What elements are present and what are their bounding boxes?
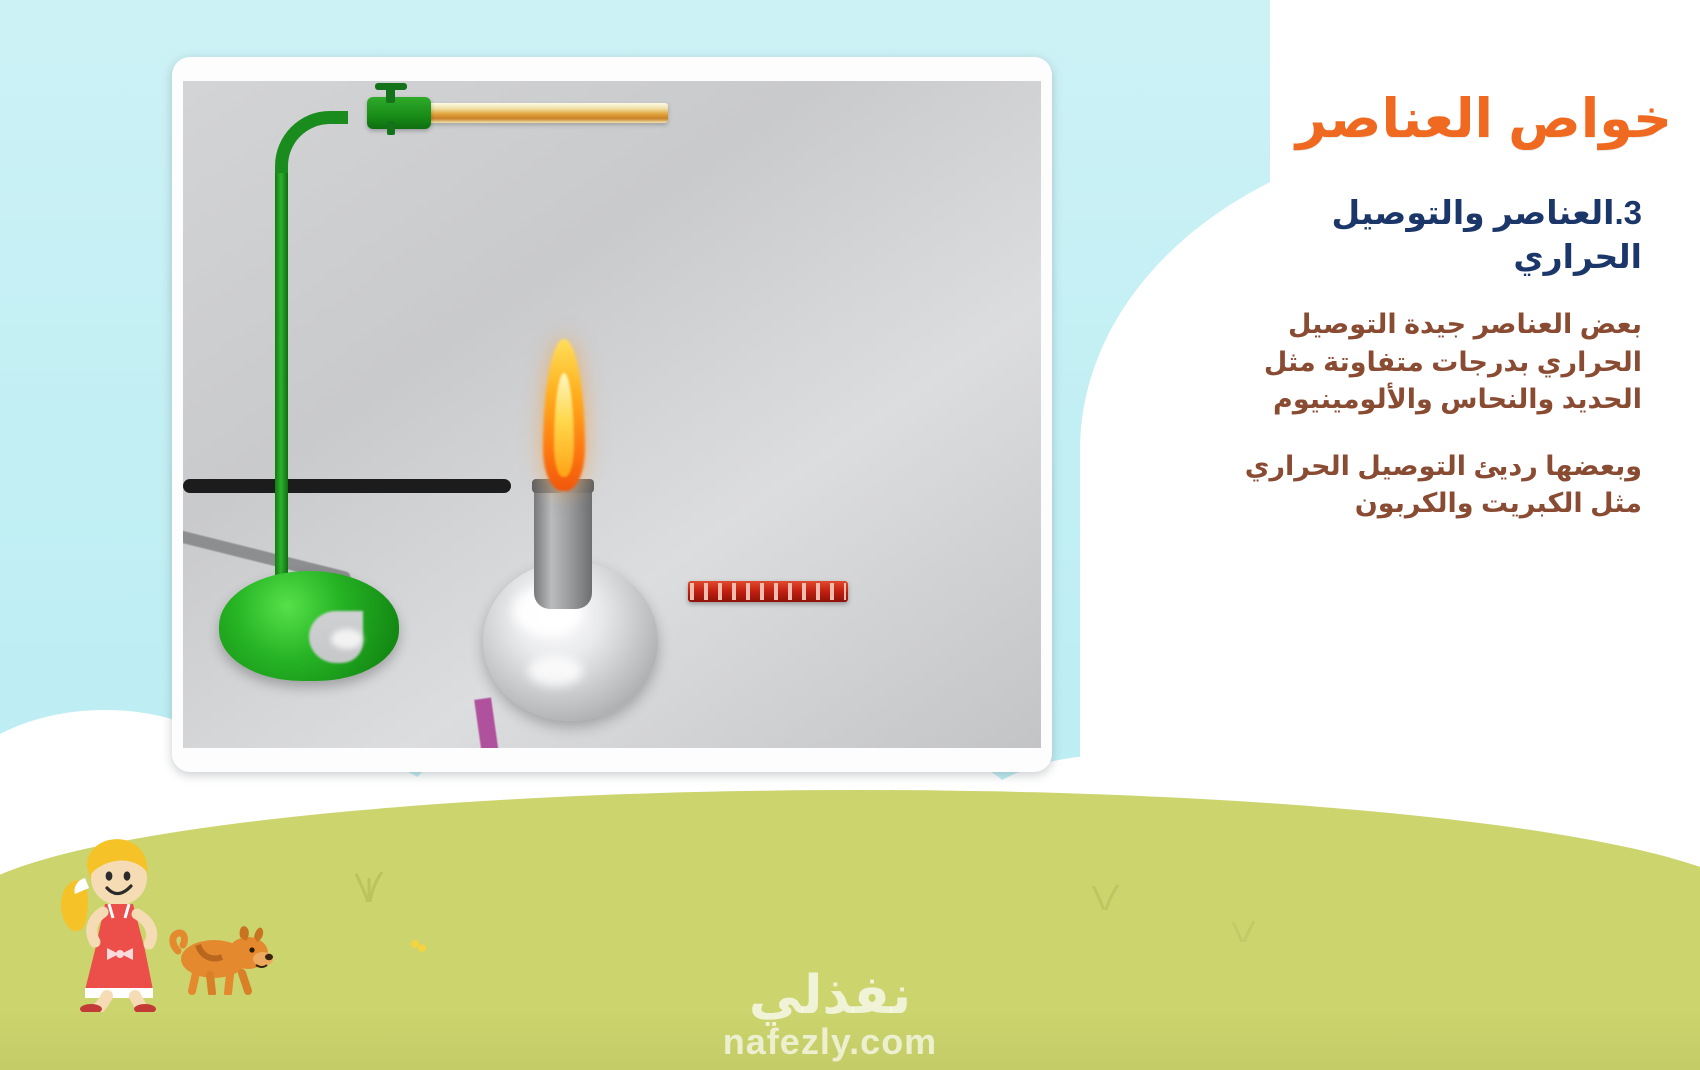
clamp-screw-lower [387,121,395,135]
red-bar-stripes [690,583,846,600]
watermark: نفذلي nafezly.com [640,969,1020,1060]
burner-highlight-lower [528,656,583,686]
watermark-arabic: نفذلي [640,969,1020,1022]
stand-base-highlight [331,629,363,649]
grass-tuft-icon [1090,874,1120,910]
body-paragraph-1: بعض العناصر جيدة التوصيل الحراري بدرجات … [1242,306,1642,418]
slide-stage: خواص العناصر 3.العناصر والتوصيل الحراري … [0,0,1700,1070]
clamp-screw [386,85,395,103]
grass-tuft-icon [352,860,386,902]
section-heading-line1: 3.العناصر والتوصيل [1332,194,1643,231]
page-title: خواص العناصر [1152,90,1672,149]
clamp-head [367,97,431,129]
burner-neck [534,479,592,609]
support-bar-black [183,479,511,493]
media-panel[interactable] [172,57,1052,772]
cartoon-girl [55,822,175,1012]
cartoon-dog [168,917,273,995]
body-paragraph-2: وبعضها رديئ التوصيل الحراري مثل الكبريت … [1242,448,1642,523]
watermark-domain: nafezly.com [640,1024,1020,1060]
experiment-illustration [183,81,1041,748]
stand-base [219,571,399,681]
text-column: خواص العناصر 3.العناصر والتوصيل الحراري … [1152,90,1672,553]
grass-tuft-icon [1230,912,1256,942]
red-striped-bar [688,581,848,602]
stand-pole [275,173,288,593]
section-heading: 3.العناصر والتوصيل الحراري [1222,191,1642,278]
section-heading-line2: الحراري [1513,238,1642,275]
flower-icon [408,936,430,958]
metal-rod [413,103,668,123]
